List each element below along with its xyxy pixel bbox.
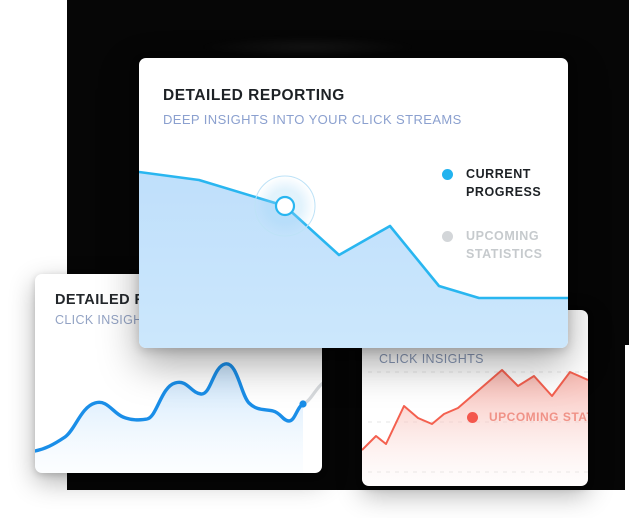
bottom-right-legend-label: UPCOMING STATISTICS [489,409,588,426]
legend-dot-grey-icon [442,231,453,242]
chart-end-dot [299,400,306,407]
bottom-right-title: CLICK INSIGHTS [379,352,484,366]
bottom-right-legend: UPCOMING STATISTICS [467,409,588,426]
bottom-left-area-chart [35,341,322,473]
page-title: DETAILED REPORTING [163,87,462,106]
legend-item-current-progress[interactable]: CURRENT PROGRESS [442,166,543,201]
background-glow [200,36,415,58]
legend-label-upcoming-statistics: UPCOMING STATISTICS [466,228,543,263]
main-card-header: DETAILED REPORTING DEEP INSIGHTS INTO YO… [163,87,462,127]
page-subtitle: DEEP INSIGHTS INTO YOUR CLICK STREAMS [163,112,462,128]
legend-label-current-progress: CURRENT PROGRESS [466,166,541,201]
main-chart-legend: CURRENT PROGRESS UPCOMING STATISTICS [442,166,543,263]
legend-item-upcoming-statistics[interactable]: UPCOMING STATISTICS [442,228,543,263]
legend-dot-blue-icon [442,169,453,180]
background-block-white-left [0,0,67,228]
card-detailed-reporting-main[interactable]: DETAILED REPORTING DEEP INSIGHTS INTO YO… [139,58,568,348]
chart-point-marker-icon [276,197,294,215]
legend-dot-icon [467,412,478,423]
